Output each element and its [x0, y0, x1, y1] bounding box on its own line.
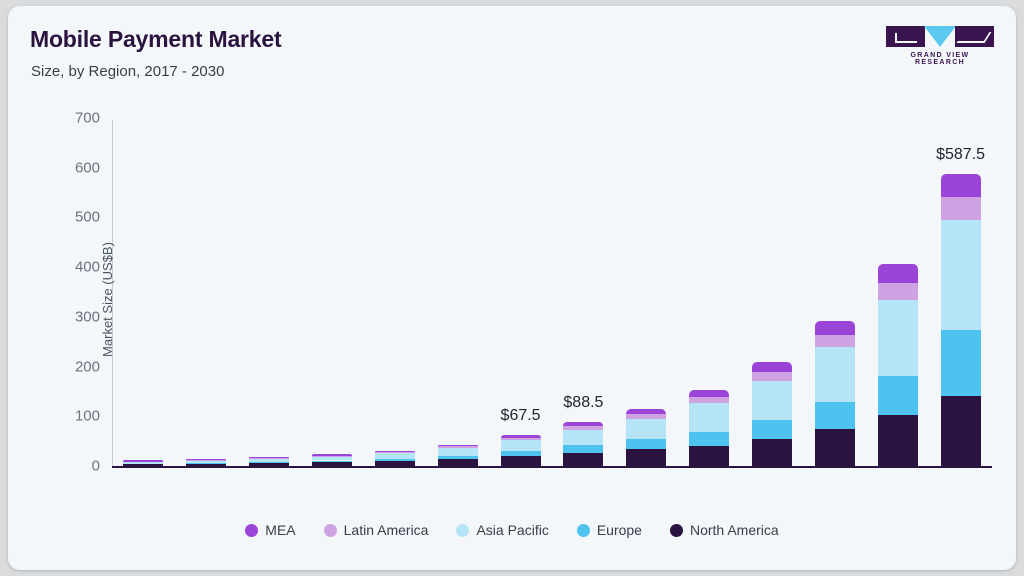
- bar-segment-europe[interactable]: [438, 456, 478, 460]
- bar-segment-europe[interactable]: [878, 376, 918, 415]
- bar-segment-europe[interactable]: [626, 439, 666, 449]
- bar-segment-mea[interactable]: [626, 409, 666, 414]
- bar-segment-north-america[interactable]: [752, 439, 792, 466]
- bar-segment-asia-pacific[interactable]: [815, 347, 855, 402]
- bar-segment-asia-pacific[interactable]: [563, 430, 603, 445]
- bar-segment-europe[interactable]: [375, 459, 415, 462]
- bar-value-label: $88.5: [563, 394, 603, 412]
- bar-segment-latin-america[interactable]: [752, 372, 792, 381]
- bar-segment-asia-pacific[interactable]: [501, 440, 541, 451]
- logo-wordmark: GRAND VIEW RESEARCH: [886, 52, 994, 66]
- logo-right-box-icon: [955, 26, 994, 47]
- legend-item-mea[interactable]: MEA: [245, 522, 295, 538]
- bar-group-2022[interactable]: [438, 118, 478, 466]
- plot-area: Market Size (US$B) 010020030040050060070…: [112, 118, 992, 466]
- bar-segment-asia-pacific[interactable]: [878, 300, 918, 376]
- bar-segment-europe[interactable]: [689, 432, 729, 446]
- y-axis-tick: 700: [75, 110, 100, 127]
- stacked-bar[interactable]: [375, 451, 415, 466]
- bar-segment-asia-pacific[interactable]: [752, 381, 792, 420]
- bar-segment-north-america[interactable]: [123, 464, 163, 466]
- bar-segment-europe[interactable]: [312, 461, 352, 463]
- stacked-bar[interactable]: [689, 390, 729, 466]
- bar-segment-latin-america[interactable]: [878, 283, 918, 300]
- stacked-bar[interactable]: [941, 174, 981, 466]
- bar-group-2024[interactable]: [563, 118, 603, 466]
- legend-color-swatch-icon: [456, 524, 469, 537]
- bar-segment-mea[interactable]: [563, 422, 603, 426]
- logo-left-box-icon: [886, 26, 925, 47]
- stacked-bar[interactable]: [878, 264, 918, 466]
- bar-group-2026[interactable]: [689, 118, 729, 466]
- bar-value-label: $67.5: [501, 407, 541, 425]
- bar-group-2027[interactable]: [752, 118, 792, 466]
- stacked-bar[interactable]: [123, 461, 163, 466]
- bar-segment-europe[interactable]: [815, 402, 855, 429]
- page-title: Mobile Payment Market: [30, 26, 281, 53]
- bar-group-2030[interactable]: [941, 118, 981, 466]
- y-axis-tick: 600: [75, 159, 100, 176]
- stacked-bar[interactable]: [626, 409, 666, 466]
- logo-mark: [886, 26, 994, 47]
- y-axis-tick: 500: [75, 209, 100, 226]
- bar-segment-mea[interactable]: [878, 264, 918, 283]
- legend-item-latin-america[interactable]: Latin America: [324, 522, 429, 538]
- chart-legend: MEALatin AmericaAsia PacificEuropeNorth …: [8, 522, 1016, 538]
- chart-card: Mobile Payment Market Size, by Region, 2…: [8, 6, 1016, 570]
- legend-color-swatch-icon: [577, 524, 590, 537]
- stacked-bar[interactable]: [186, 460, 226, 466]
- bar-segment-europe[interactable]: [249, 462, 289, 464]
- bar-segment-latin-america[interactable]: [941, 197, 981, 220]
- legend-item-asia-pacific[interactable]: Asia Pacific: [456, 522, 548, 538]
- bar-segment-latin-america[interactable]: [815, 335, 855, 347]
- bar-segment-latin-america[interactable]: [501, 438, 541, 440]
- bar-segment-north-america[interactable]: [815, 429, 855, 466]
- bar-segment-north-america[interactable]: [312, 462, 352, 466]
- stacked-bar[interactable]: [752, 362, 792, 466]
- bar-segment-latin-america[interactable]: [689, 397, 729, 403]
- y-axis-tick: 400: [75, 259, 100, 276]
- bar-segment-north-america[interactable]: [563, 453, 603, 466]
- legend-label: North America: [690, 522, 779, 538]
- legend-color-swatch-icon: [670, 524, 683, 537]
- y-axis-tick: 100: [75, 408, 100, 425]
- bar-segment-europe[interactable]: [501, 451, 541, 456]
- bar-group-2021[interactable]: [375, 118, 415, 466]
- y-axis-tick: 200: [75, 358, 100, 375]
- bar-segment-mea[interactable]: [689, 390, 729, 397]
- stacked-bar[interactable]: [501, 435, 541, 466]
- bar-value-label: $587.5: [936, 146, 985, 164]
- bar-segment-north-america[interactable]: [941, 396, 981, 466]
- bar-segment-asia-pacific[interactable]: [186, 461, 226, 463]
- bar-segment-north-america[interactable]: [501, 456, 541, 466]
- bar-segment-asia-pacific[interactable]: [249, 459, 289, 462]
- bar-segment-mea[interactable]: [375, 451, 415, 453]
- bar-segment-europe[interactable]: [563, 445, 603, 452]
- bar-group-2028[interactable]: [815, 118, 855, 466]
- bar-segment-mea[interactable]: [752, 362, 792, 372]
- page-subtitle: Size, by Region, 2017 - 2030: [31, 63, 224, 80]
- legend-label: Latin America: [344, 522, 429, 538]
- bar-segment-asia-pacific[interactable]: [312, 457, 352, 461]
- legend-label: Asia Pacific: [476, 522, 548, 538]
- bar-segment-mea[interactable]: [123, 460, 163, 462]
- bar-segment-north-america[interactable]: [186, 464, 226, 466]
- bar-group-2029[interactable]: [878, 118, 918, 466]
- stacked-bar[interactable]: [815, 321, 855, 466]
- legend-color-swatch-icon: [245, 524, 258, 537]
- bar-series-container: [112, 118, 992, 466]
- bar-segment-asia-pacific[interactable]: [438, 448, 478, 455]
- bar-segment-mea[interactable]: [312, 454, 352, 456]
- bar-segment-latin-america[interactable]: [563, 426, 603, 430]
- bar-segment-north-america[interactable]: [375, 461, 415, 466]
- bar-group-2019[interactable]: [249, 118, 289, 466]
- bar-segment-mea[interactable]: [501, 435, 541, 438]
- legend-color-swatch-icon: [324, 524, 337, 537]
- logo-triangle-icon: [924, 26, 956, 47]
- bar-segment-asia-pacific[interactable]: [123, 462, 163, 464]
- bar-segment-europe[interactable]: [752, 420, 792, 439]
- stacked-bar[interactable]: [249, 458, 289, 466]
- bar-segment-asia-pacific[interactable]: [689, 403, 729, 431]
- bar-group-2025[interactable]: [626, 118, 666, 466]
- legend-label: MEA: [265, 522, 295, 538]
- bar-group-2017[interactable]: [123, 118, 163, 466]
- grand-view-research-logo: GRAND VIEW RESEARCH: [886, 26, 994, 62]
- legend-item-north-america[interactable]: North America: [670, 522, 779, 538]
- bar-segment-north-america[interactable]: [249, 463, 289, 466]
- x-axis-line: [112, 466, 992, 468]
- bar-segment-north-america[interactable]: [626, 449, 666, 466]
- bar-segment-asia-pacific[interactable]: [375, 453, 415, 458]
- bar-segment-mea[interactable]: [941, 174, 981, 197]
- stacked-bar[interactable]: [563, 422, 603, 466]
- bar-group-2018[interactable]: [186, 118, 226, 466]
- legend-label: Europe: [597, 522, 642, 538]
- y-axis-tick: 300: [75, 308, 100, 325]
- stacked-bar[interactable]: [438, 445, 478, 466]
- bar-segment-asia-pacific[interactable]: [626, 419, 666, 439]
- bar-segment-asia-pacific[interactable]: [941, 220, 981, 329]
- bar-segment-latin-america[interactable]: [438, 446, 478, 448]
- bar-segment-north-america[interactable]: [689, 446, 729, 466]
- legend-item-europe[interactable]: Europe: [577, 522, 642, 538]
- bar-group-2020[interactable]: [312, 118, 352, 466]
- stacked-bar[interactable]: [312, 455, 352, 466]
- bar-segment-latin-america[interactable]: [626, 414, 666, 419]
- bar-segment-north-america[interactable]: [438, 459, 478, 466]
- bar-segment-mea[interactable]: [815, 321, 855, 335]
- y-axis-tick: 0: [92, 458, 100, 475]
- bar-segment-europe[interactable]: [941, 330, 981, 396]
- bar-segment-north-america[interactable]: [878, 415, 918, 466]
